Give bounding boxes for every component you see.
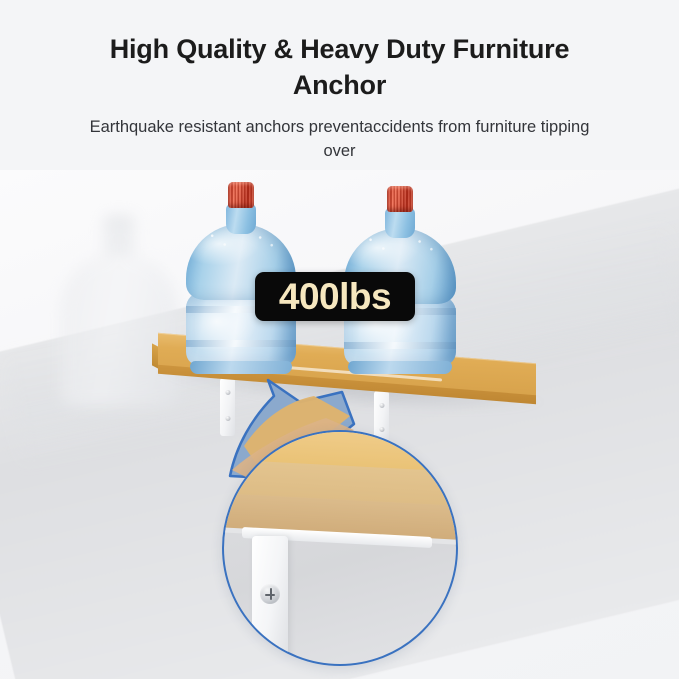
product-marketing-image: 400lbs High Quality & Heavy Duty Furnitu… [0,0,679,679]
weight-capacity-label: 400lbs [279,278,391,315]
magnified-bracket-leg [252,536,288,666]
magnified-screw-2 [260,646,280,666]
magnified-screw-1 [260,584,280,604]
magnifier-detail [0,0,679,679]
weight-capacity-badge: 400lbs [255,272,415,321]
magnifier-circle [222,430,458,666]
